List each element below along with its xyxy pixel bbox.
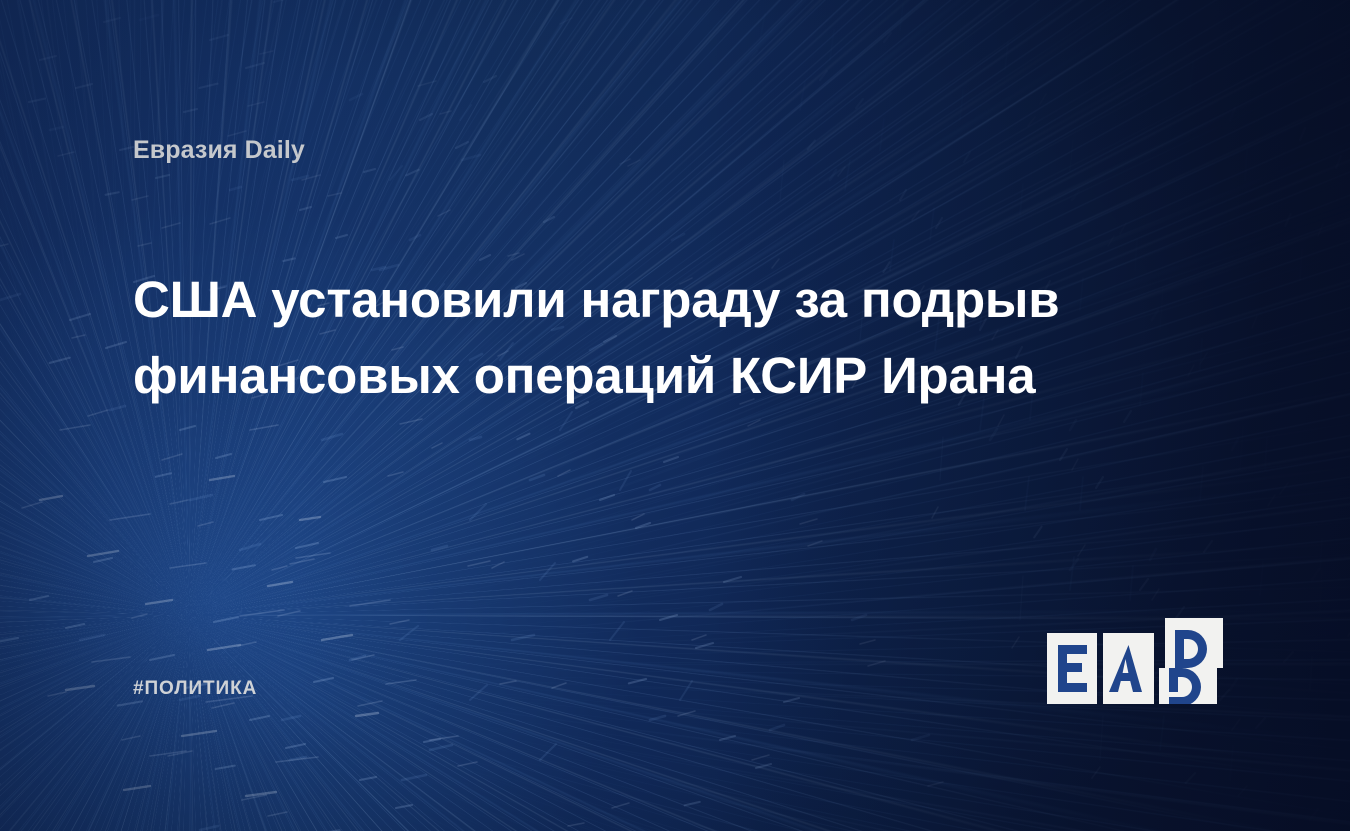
category-tag[interactable]: #ПОЛИТИКА [133, 678, 257, 700]
headline: США установили награду за подрыв финансо… [133, 262, 1123, 414]
news-share-card: Евразия Daily США установили награду за … [0, 0, 1350, 831]
headline-line-1: США установили награду за подрыв [133, 262, 1123, 338]
eadaily-logo[interactable] [1047, 618, 1223, 704]
card-content: Евразия Daily США установили награду за … [0, 0, 1350, 831]
headline-line-2: финансовых операций КСИР Ирана [133, 338, 1123, 414]
site-name: Евразия Daily [133, 136, 305, 165]
eadaily-logo-mark [1047, 618, 1223, 704]
